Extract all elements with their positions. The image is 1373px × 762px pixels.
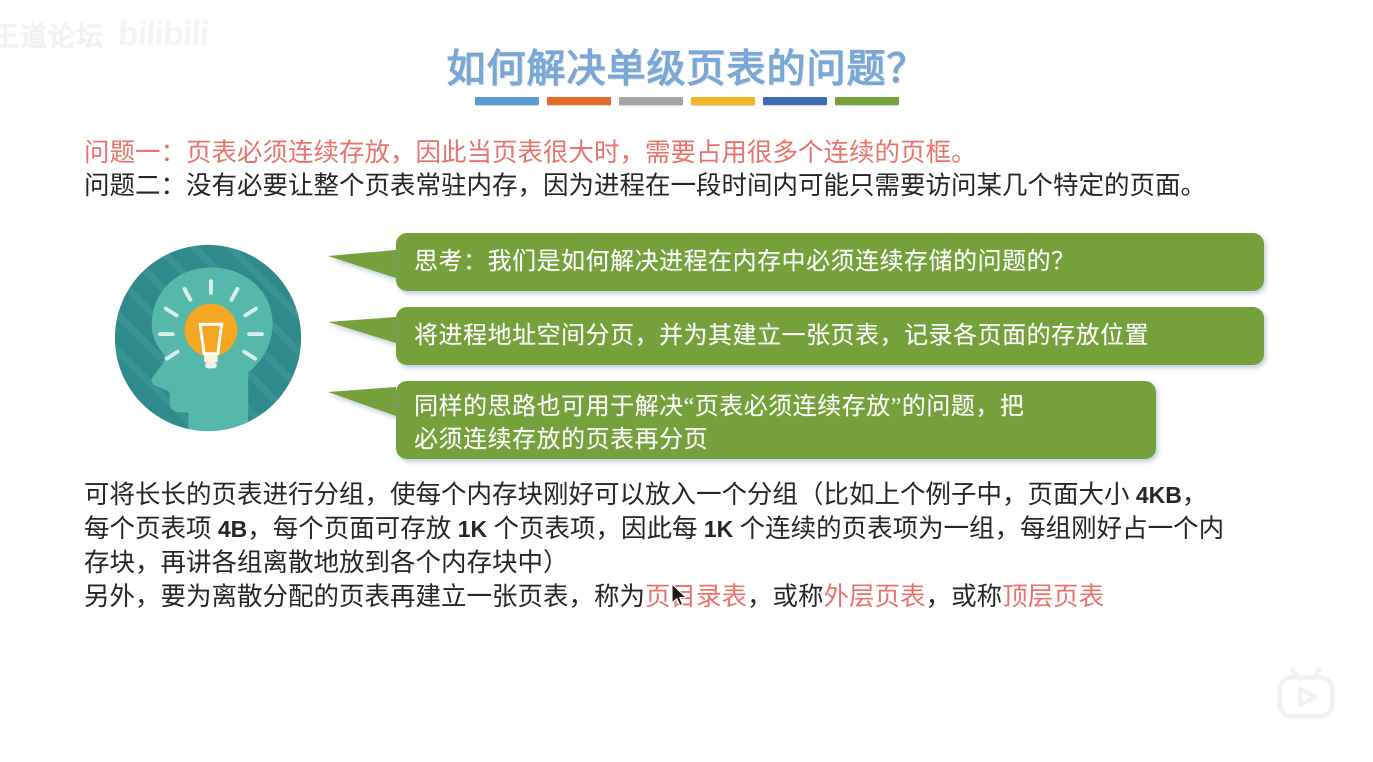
- body-line-1-part-b: ，: [1182, 480, 1208, 509]
- rule-segment-gray: [619, 97, 683, 105]
- slide-canvas: 王道论坛 bilibili 如何解决单级页表的问题？ 问题一：页表必须连续存放，…: [0, 0, 1373, 762]
- body-line-2-part-b: ，每个页面可存放: [247, 514, 457, 543]
- callout-question-text: 思考：我们是如何解决进程在内存中必须连续存储的问题的？: [414, 249, 1076, 275]
- rule-segment-orange: [547, 97, 611, 105]
- callout-answer-text: 将进程地址空间分页，并为其建立一张页表，记录各页面的存放位置: [414, 323, 1149, 349]
- problem-one-text: 问题一：页表必须连续存放，因此当页表很大时，需要占用很多个连续的页框。: [84, 138, 977, 168]
- page-title: 如何解决单级页表的问题？: [0, 38, 1373, 94]
- body-line-1-number: 4KB: [1136, 482, 1182, 508]
- body-line-2-part-d: 个连续的页表项为一组，每组刚好占一个内: [733, 514, 1224, 543]
- term-outer-page-table: 外层页表: [824, 582, 926, 611]
- problem-two-text: 问题二：没有必要让整个页表常驻内存，因为进程在一段时间内可能只需要访问某几个特定…: [84, 171, 1206, 201]
- rule-segment-darkblue: [763, 97, 827, 105]
- bilibili-play-watermark-icon: [1267, 654, 1345, 732]
- callout-idea-line1: 同样的思路也可用于解决“页表必须连续存放”的问题，把: [414, 391, 1156, 424]
- body-paragraph: 可将长长的页表进行分组，使每个内存块刚好可以放入一个分组（比如上个例子中，页面大…: [84, 478, 1294, 615]
- body-line-4-part-a: 另外，要为离散分配的页表再建立一张页表，称为: [84, 582, 645, 611]
- callout-idea: 同样的思路也可用于解决“页表必须连续存放”的问题，把 必须连续存放的页表再分页: [396, 381, 1156, 459]
- rule-segment-yellow: [691, 97, 755, 105]
- body-line-1: 可将长长的页表进行分组，使每个内存块刚好可以放入一个分组（比如上个例子中，页面大…: [84, 478, 1294, 512]
- rule-segment-blue: [475, 97, 539, 105]
- body-line-4: 另外，要为离散分配的页表再建立一张页表，称为页目录表，或称外层页表，或称顶层页表: [84, 580, 1294, 614]
- callout-question: 思考：我们是如何解决进程在内存中必须连续存储的问题的？: [396, 233, 1264, 291]
- body-line-2-number-1: 4B: [218, 516, 247, 542]
- body-line-4-part-b: ，或称: [747, 582, 824, 611]
- callout-tail-icon: [328, 317, 396, 343]
- callout-idea-line2: 必须连续存放的页表再分页: [414, 424, 1156, 457]
- callout-answer: 将进程地址空间分页，并为其建立一张页表，记录各页面的存放位置: [396, 307, 1264, 365]
- body-line-2-number-2: 1K: [458, 516, 487, 542]
- body-line-2-part-a: 每个页表项: [84, 514, 218, 543]
- brain-lightbulb-icon: [110, 240, 306, 436]
- body-line-2: 每个页表项 4B，每个页面可存放 1K 个页表项，因此每 1K 个连续的页表项为…: [84, 512, 1294, 546]
- rule-segment-green: [835, 97, 899, 105]
- body-line-2-part-c: 个页表项，因此每: [487, 514, 704, 543]
- title-underline-rule: [0, 97, 1373, 105]
- callout-tail-icon: [328, 250, 396, 278]
- body-line-1-part-a: 可将长长的页表进行分组，使每个内存块刚好可以放入一个分组（比如上个例子中，页面大…: [84, 480, 1136, 509]
- term-page-directory-table: 页目录表: [645, 582, 747, 611]
- callout-tail-icon: [328, 387, 396, 416]
- body-line-2-number-3: 1K: [704, 516, 733, 542]
- body-line-3: 存块，再讲各组离散地放到各个内存块中）: [84, 546, 1294, 580]
- body-line-4-part-c: ，或称: [926, 582, 1003, 611]
- term-top-level-page-table: 顶层页表: [1002, 582, 1104, 611]
